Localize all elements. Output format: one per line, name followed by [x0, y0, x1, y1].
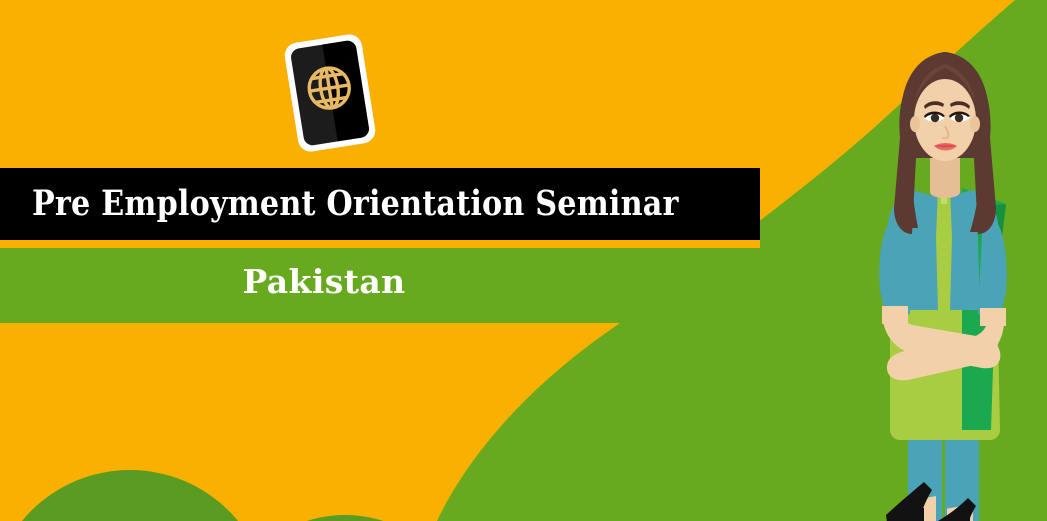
heel-left	[917, 508, 924, 521]
heel-right	[963, 516, 970, 521]
trouser-cuff-right	[945, 433, 979, 509]
page-title: Pre Employment Orientation Seminar	[32, 168, 679, 240]
country-subtitle: Pakistan	[0, 262, 648, 301]
seminar-banner: Pre Employment Orientation Seminar Pakis…	[0, 0, 1047, 521]
ear-right	[970, 116, 980, 132]
sleeve-left	[879, 224, 910, 318]
neck	[930, 156, 960, 198]
kurta-placket	[936, 188, 952, 310]
upper-arm-left	[882, 306, 908, 324]
sleeve-right	[978, 224, 1007, 320]
passport-icon	[272, 28, 388, 158]
upper-arm-right	[980, 308, 1006, 326]
woman-illustration	[846, 38, 1046, 521]
title-banner: Pre Employment Orientation Seminar	[0, 168, 760, 248]
ear-left	[910, 116, 920, 132]
title-banner-underline	[0, 240, 760, 248]
